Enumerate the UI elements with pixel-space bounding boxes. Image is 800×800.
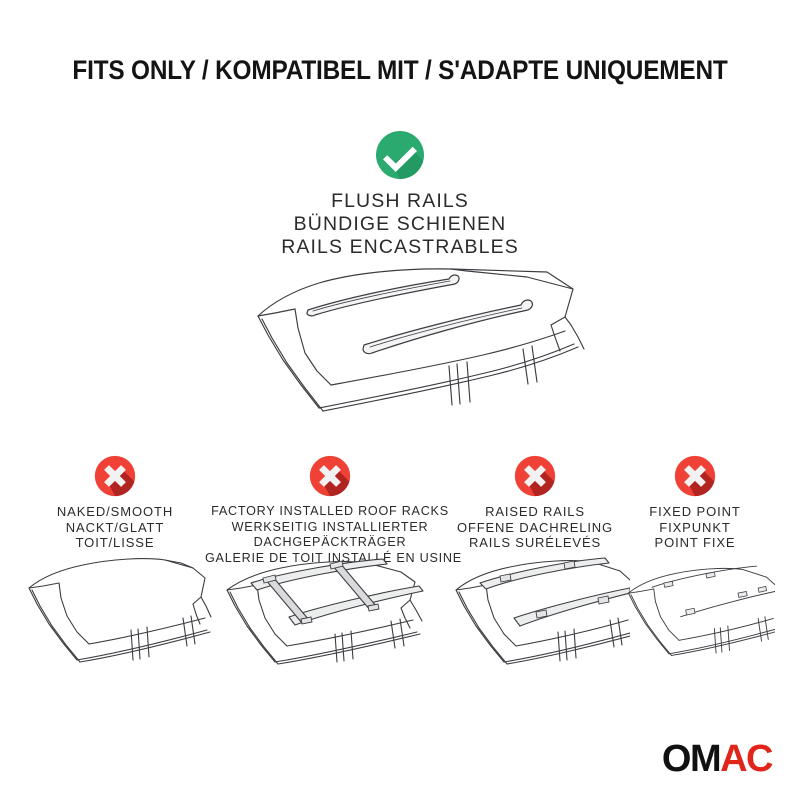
incompatible-item-fixed-point: FIXED POINT FIXPUNKT POINT FIXE — [615, 450, 775, 551]
incompatible-label-de-2: DACHGEPÄCKTRÄGER — [205, 535, 455, 551]
incompatible-section: NAKED/SMOOTH NACKT/GLATT TOIT/LISSE — [0, 450, 800, 730]
incompatible-label-en: FIXED POINT — [615, 504, 775, 520]
page-title: FITS ONLY / KOMPATIBEL MIT / S'ADAPTE UN… — [32, 54, 768, 86]
compatible-label-en: FLUSH RAILS — [0, 190, 800, 213]
incompatible-item-factory-rack: FACTORY INSTALLED ROOF RACKS WERKSEITIG … — [205, 450, 455, 566]
car-roof-flush-rails-illustration — [235, 265, 595, 435]
incompatible-label-fr: POINT FIXE — [615, 535, 775, 551]
x-circle-icon — [94, 455, 136, 497]
incompatible-labels: NAKED/SMOOTH NACKT/GLATT TOIT/LISSE — [15, 504, 215, 551]
incompatible-label-de: OFFENE DACHRELING — [440, 520, 630, 536]
x-circle-icon — [309, 455, 351, 497]
compatible-section: FLUSH RAILS BÜNDIGE SCHIENEN RAILS ENCAS… — [0, 130, 800, 259]
check-circle-icon — [375, 130, 425, 180]
compatible-labels: FLUSH RAILS BÜNDIGE SCHIENEN RAILS ENCAS… — [0, 190, 800, 259]
x-circle-icon — [514, 455, 556, 497]
incompatible-item-naked-smooth: NAKED/SMOOTH NACKT/GLATT TOIT/LISSE — [15, 450, 215, 551]
incompatible-label-de-1: WERKSEITIG INSTALLIERTER — [205, 520, 455, 536]
compatible-label-fr: RAILS ENCASTRABLES — [0, 236, 800, 259]
car-roof-fixed-point-illustration — [615, 550, 775, 670]
incompatible-label-de: NACKT/GLATT — [15, 520, 215, 536]
incompatible-labels: RAISED RAILS OFFENE DACHRELING RAILS SUR… — [440, 504, 630, 551]
car-roof-raised-rails-illustration — [440, 550, 630, 670]
incompatible-label-en: NAKED/SMOOTH — [15, 504, 215, 520]
logo-text-om: OM — [662, 738, 720, 780]
incompatible-label-en: FACTORY INSTALLED ROOF RACKS — [205, 504, 455, 520]
omac-logo: OMAC — [662, 740, 772, 778]
car-roof-factory-rack-illustration — [205, 550, 455, 670]
incompatible-label-en: RAISED RAILS — [440, 504, 630, 520]
logo-text-ac: AC — [720, 738, 772, 780]
incompatible-label-de: FIXPUNKT — [615, 520, 775, 536]
incompatible-label-fr: TOIT/LISSE — [15, 535, 215, 551]
fitment-infographic: FITS ONLY / KOMPATIBEL MIT / S'ADAPTE UN… — [0, 0, 800, 800]
compatible-label-de: BÜNDIGE SCHIENEN — [0, 213, 800, 236]
incompatible-labels: FIXED POINT FIXPUNKT POINT FIXE — [615, 504, 775, 551]
incompatible-label-fr: RAILS SURÉLEVÉS — [440, 535, 630, 551]
incompatible-item-raised-rails: RAISED RAILS OFFENE DACHRELING RAILS SUR… — [440, 450, 630, 551]
car-roof-naked-smooth-illustration — [15, 550, 215, 670]
x-circle-icon — [674, 455, 716, 497]
